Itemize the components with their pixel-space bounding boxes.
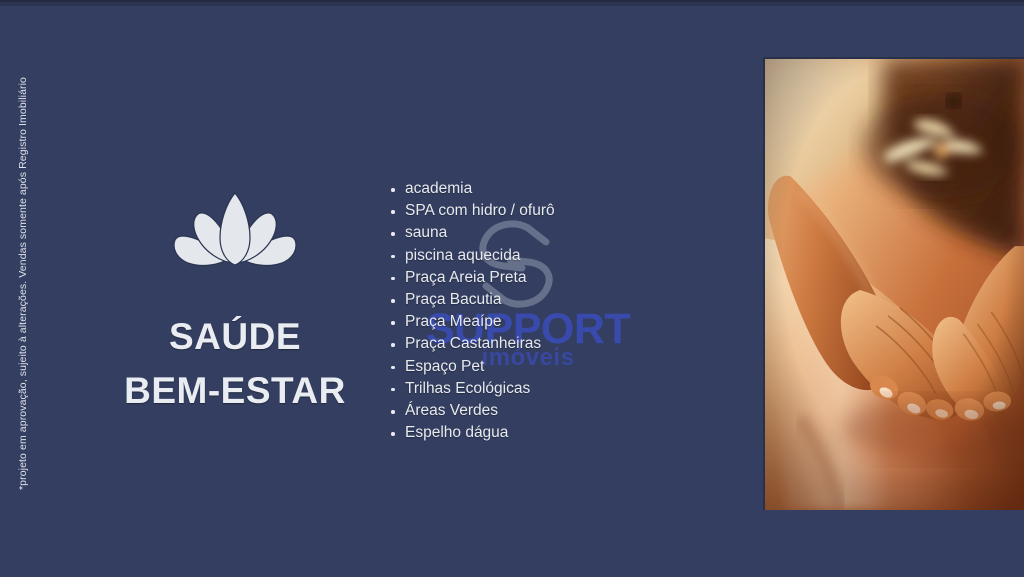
- title-line-1: SAÚDE: [100, 310, 370, 364]
- feature-list: academia SPA com hidro / ofurô sauna pis…: [388, 178, 555, 444]
- slide-canvas: *projeto em aprovação, sujeito à alteraç…: [0, 0, 1024, 577]
- lotus-flower-icon: [170, 190, 300, 272]
- top-edge-hairline: [0, 0, 1024, 2]
- list-item: Trilhas Ecológicas: [388, 378, 555, 400]
- list-item: Praça Areia Preta: [388, 267, 555, 289]
- list-item: Praça Bacutia: [388, 289, 555, 311]
- massage-therapy-photo: [765, 59, 1024, 510]
- list-item: Espelho dágua: [388, 422, 555, 444]
- title-line-2: BEM-ESTAR: [100, 364, 370, 418]
- photo-frame: [763, 57, 1024, 510]
- page-title: SAÚDE BEM-ESTAR: [100, 310, 370, 417]
- headline-block: SAÚDE BEM-ESTAR: [100, 190, 370, 417]
- list-item: Espaço Pet: [388, 356, 555, 378]
- list-item: academia: [388, 178, 555, 200]
- list-item: Áreas Verdes: [388, 400, 555, 422]
- list-item: sauna: [388, 222, 555, 244]
- list-item: Praça Meaípe: [388, 311, 555, 333]
- list-item: SPA com hidro / ofurô: [388, 200, 555, 222]
- legal-disclaimer: *projeto em aprovação, sujeito à alteraç…: [14, 70, 32, 490]
- list-item: piscina aquecida: [388, 245, 555, 267]
- list-item: Praça Castanheiras: [388, 333, 555, 355]
